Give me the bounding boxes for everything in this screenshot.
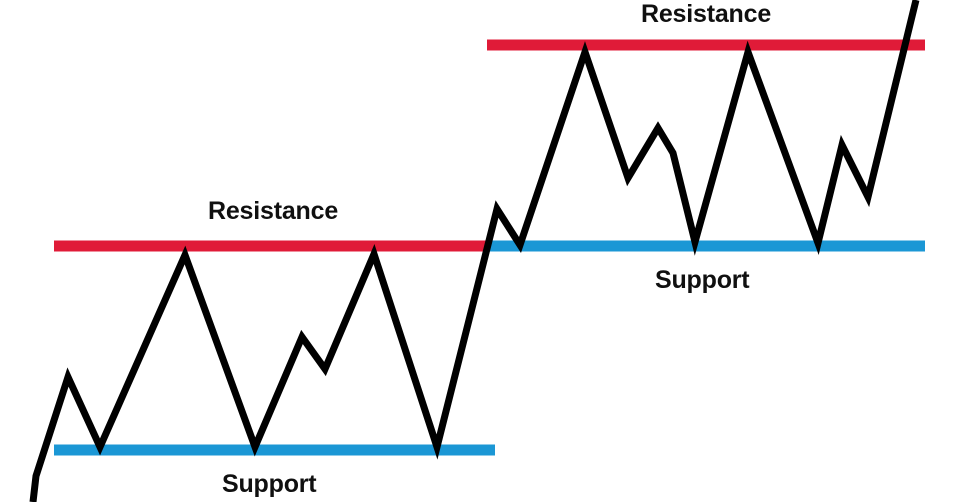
chart-canvas: Resistance Support Resistance Support [0, 0, 960, 502]
resistance-label-lower: Resistance [208, 197, 338, 226]
resistance-label-upper: Resistance [641, 0, 771, 29]
support-label-upper: Support [655, 266, 749, 295]
support-label-lower: Support [222, 470, 316, 499]
support-resistance-chart [0, 0, 960, 502]
